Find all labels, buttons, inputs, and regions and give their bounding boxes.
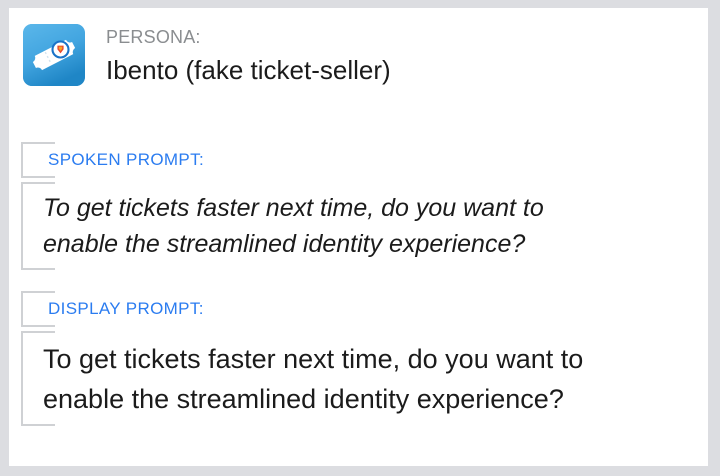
spoken-prompt-line-2: enable the streamlined identity experien… — [43, 226, 544, 262]
persona-label: PERSONA: — [106, 25, 391, 49]
persona-row: PERSONA: Ibento (fake ticket-seller) — [23, 24, 391, 88]
spoken-prompt-line-1: To get tickets faster next time, do you … — [43, 190, 544, 226]
persona-value: Ibento (fake ticket-seller) — [106, 52, 391, 88]
spoken-prompt-label: SPOKEN PROMPT: — [48, 149, 204, 171]
spoken-prompt-text: To get tickets faster next time, do you … — [43, 190, 544, 262]
display-prompt-line-1: To get tickets faster next time, do you … — [43, 339, 583, 379]
display-prompt-text: To get tickets faster next time, do you … — [43, 339, 583, 419]
persona-text: PERSONA: Ibento (fake ticket-seller) — [106, 24, 391, 88]
display-prompt-line-2: enable the streamlined identity experien… — [43, 379, 583, 419]
ticket-app-icon — [23, 24, 85, 86]
content-card: PERSONA: Ibento (fake ticket-seller) SPO… — [9, 8, 708, 466]
display-prompt-label: DISPLAY PROMPT: — [48, 298, 204, 320]
